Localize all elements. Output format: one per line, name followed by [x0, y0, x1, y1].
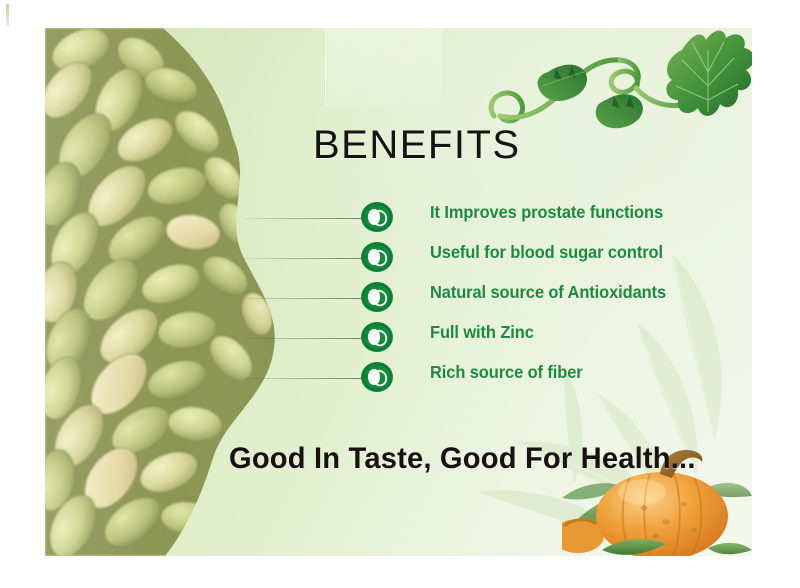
benefit-label: Rich source of fiber — [430, 362, 583, 383]
leader-line — [245, 378, 365, 379]
tagline: Good In Taste, Good For Health... — [229, 442, 696, 476]
benefit-row: Rich source of fiber — [245, 356, 745, 396]
benefit-row: It Improves prostate functions — [245, 196, 745, 236]
benefit-row: Useful for blood sugar control — [245, 236, 745, 276]
page-title: BENEFITS — [313, 123, 521, 168]
benefit-label: Useful for blood sugar control — [430, 242, 663, 263]
benefit-row: Natural source of Antioxidants — [245, 276, 745, 316]
seed-leaf-icon — [361, 242, 393, 272]
benefit-row: Full with Zinc — [245, 316, 745, 356]
poster-page: BENEFITS It Improves prostate functions — [0, 0, 800, 588]
leader-line — [245, 258, 365, 259]
vine-leaves-icon — [486, 28, 752, 144]
benefit-label: Full with Zinc — [430, 322, 534, 343]
leader-line — [245, 218, 365, 219]
seed-leaf-icon — [361, 202, 393, 232]
leader-line — [245, 338, 365, 339]
benefit-label: It Improves prostate functions — [430, 202, 663, 223]
light-panel-decor — [325, 28, 443, 106]
seed-leaf-icon — [361, 362, 393, 392]
pumpkin-vine-decor — [486, 28, 752, 144]
corner-tick-mark — [6, 4, 9, 26]
seed-leaf-icon — [361, 322, 393, 352]
benefits-list: It Improves prostate functions Useful fo… — [245, 196, 745, 396]
poster-artboard: BENEFITS It Improves prostate functions — [45, 28, 752, 556]
seed-leaf-icon — [361, 282, 393, 312]
benefit-label: Natural source of Antioxidants — [430, 282, 666, 303]
leader-line — [245, 298, 365, 299]
